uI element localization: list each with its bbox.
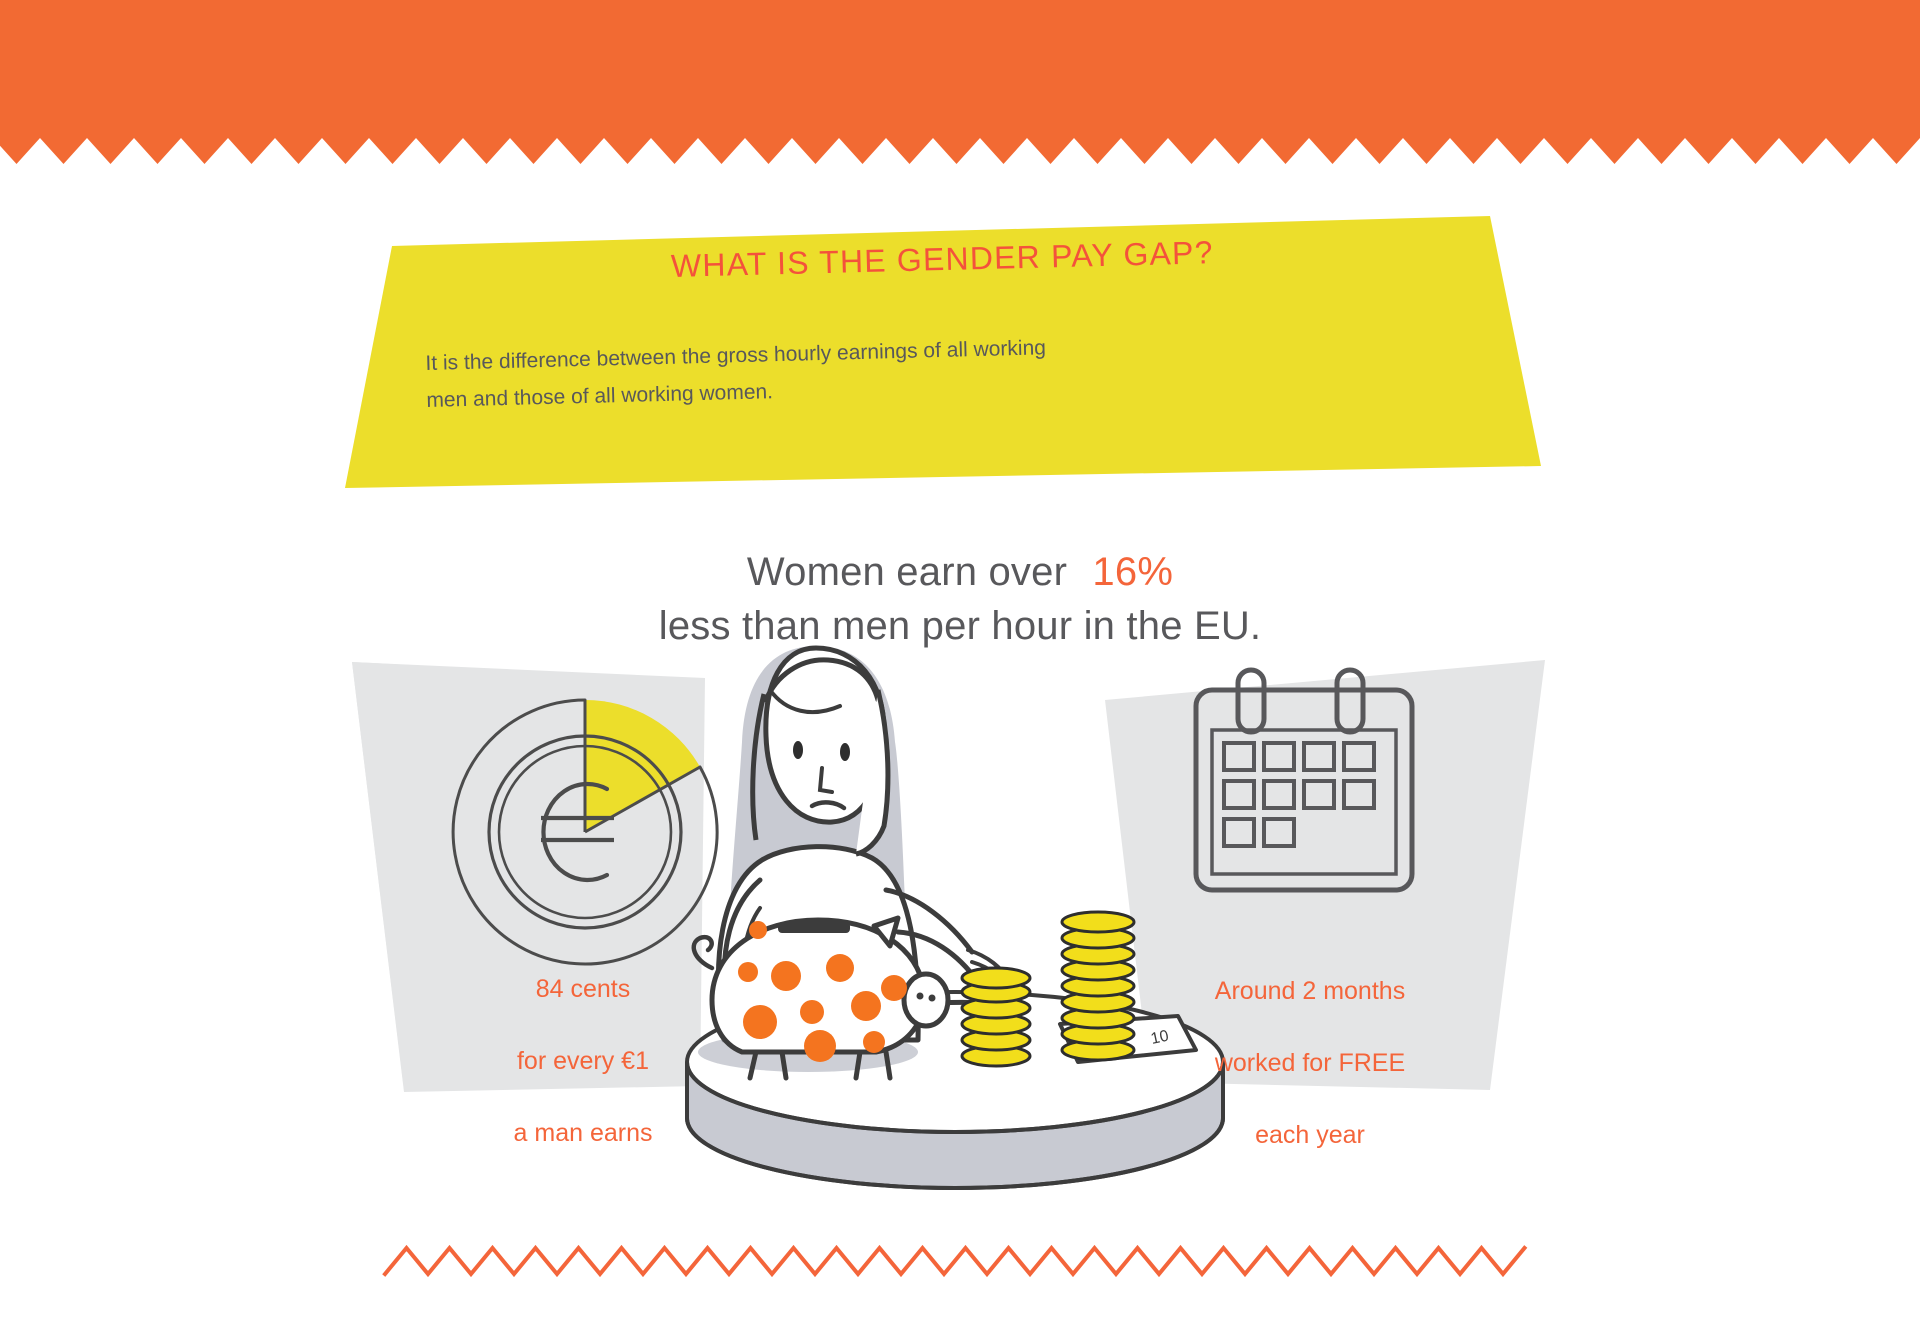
right-caption-line-1: Around 2 months [1180, 973, 1440, 1009]
piggy-nostril-right [929, 995, 936, 1002]
bottom-zigzag-divider [0, 1230, 1920, 1310]
right-panel-caption: Around 2 months worked for FREE each yea… [1180, 937, 1440, 1189]
woman-eye-right [840, 743, 850, 761]
coin-stack-short [962, 968, 1030, 1066]
left-panel-caption: 84 cents for every €1 a man earns [468, 935, 698, 1187]
left-caption-line-3: a man earns [468, 1115, 698, 1151]
piggy-bank-coin-slot [778, 922, 850, 933]
right-caption-line-3: each year [1180, 1117, 1440, 1153]
woman-eye-left [793, 741, 803, 759]
coin-stack-tall [1062, 912, 1134, 1060]
right-caption-line-2: worked for FREE [1180, 1045, 1440, 1081]
infographic-canvas: WHAT IS THE GENDER PAY GAP? It is the di… [0, 0, 1920, 1342]
left-caption-line-2: for every €1 [468, 1043, 698, 1079]
piggy-bank-snout [904, 974, 948, 1026]
piggy-nostril-left [917, 993, 924, 1000]
banknote-value: 10 [1149, 1028, 1170, 1048]
panels-and-illustration: 10 [0, 0, 1920, 1342]
left-caption-line-1: 84 cents [468, 971, 698, 1007]
bottom-zigzag-path [385, 1248, 1525, 1274]
